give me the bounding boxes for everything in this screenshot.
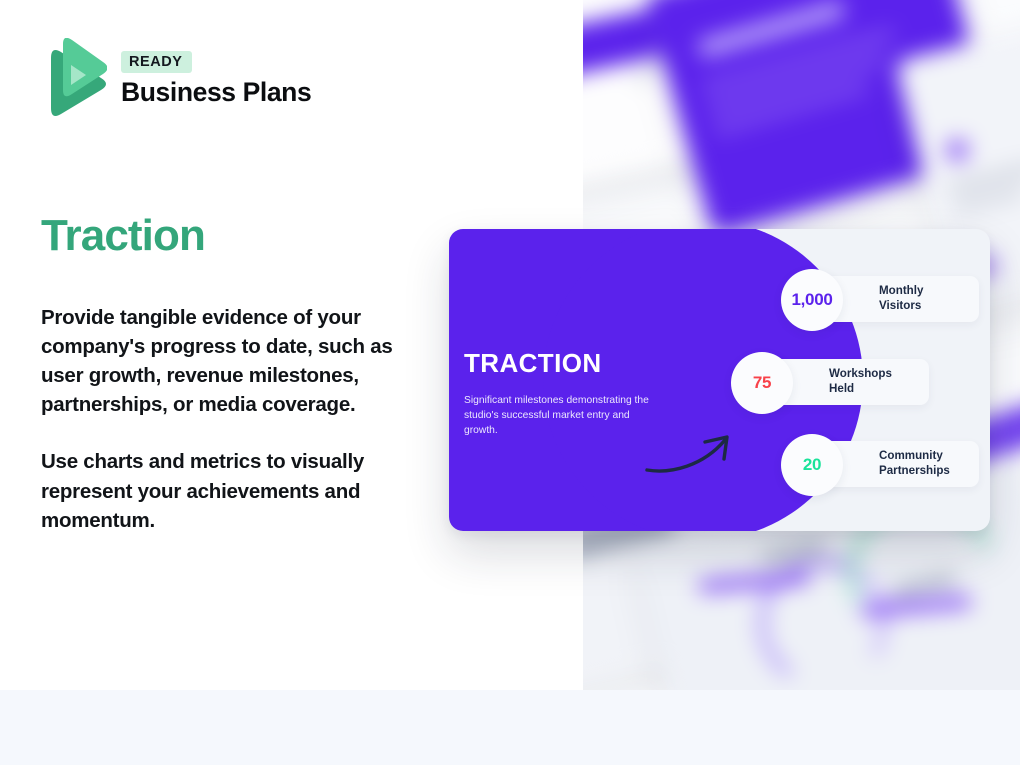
bg-bar — [944, 137, 971, 164]
slide-page: READY Business Plans Traction Provide ta… — [0, 0, 1020, 765]
slide-subheading: Significant milestones demonstrating the… — [464, 394, 650, 439]
metric-bubble: 20 — [781, 434, 843, 496]
brand-lockup: READY Business Plans — [41, 38, 311, 116]
ready-badge: READY — [121, 51, 192, 74]
body-copy: Provide tangible evidence of your compan… — [41, 303, 419, 535]
metric-value: 75 — [753, 373, 771, 393]
body-paragraph-1: Provide tangible evidence of your compan… — [41, 303, 419, 419]
slide-heading: TRACTION — [464, 349, 602, 378]
bottom-band — [0, 690, 1020, 765]
metric-bubble: 1,000 — [781, 269, 843, 331]
metric-value: 1,000 — [791, 290, 832, 310]
metric-bubble: 75 — [731, 352, 793, 414]
page-title: Traction — [41, 212, 205, 260]
body-paragraph-2: Use charts and metrics to visually repre… — [41, 447, 419, 534]
play-triangle-logo-icon — [41, 38, 107, 116]
brand-name: Business Plans — [121, 78, 311, 107]
brand-text: READY Business Plans — [121, 47, 311, 108]
metric-value: 20 — [803, 455, 821, 475]
curved-growth-arrow-icon — [645, 430, 741, 483]
